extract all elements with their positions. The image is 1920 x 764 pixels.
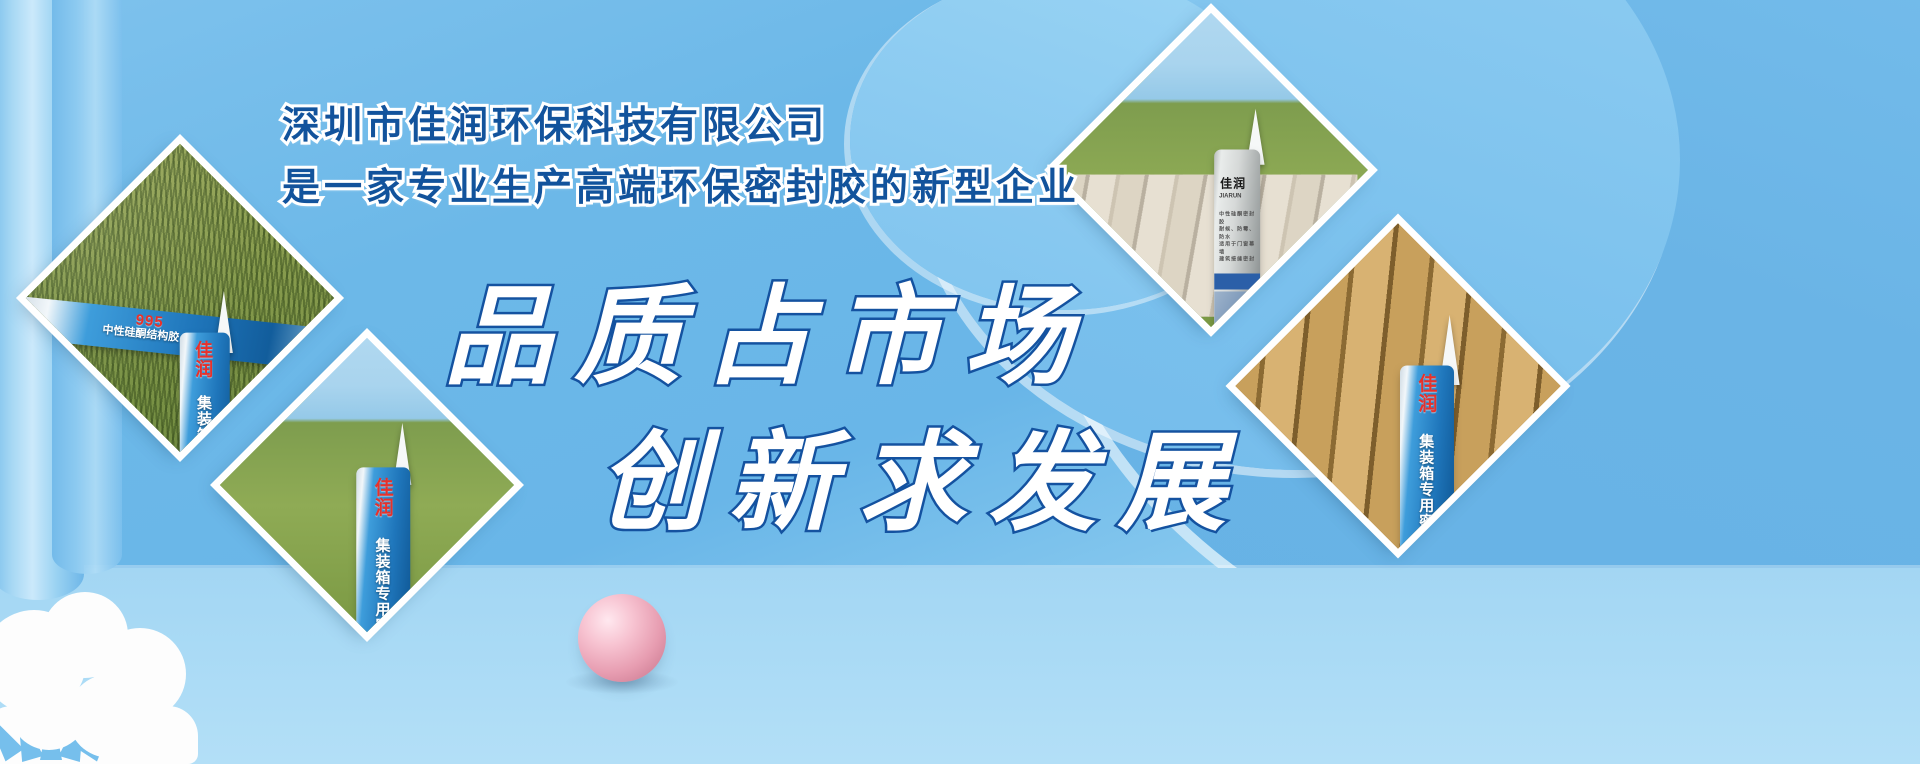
- slogan-innovation-development: 创新求发展: [598, 396, 1248, 552]
- slogan-quality-market: 品质占市场: [444, 250, 1094, 406]
- company-name-line: 深圳市佳润环保科技有限公司: [282, 96, 1042, 158]
- company-description-line: 是一家专业生产高端环保密封胶的新型企业: [282, 158, 1042, 220]
- tube-jiarun-gray: 佳润 JIARUN 中性硅酮密封胶耐候、防霉、防水适用于门窗幕墙建筑接缝密封: [1214, 149, 1260, 326]
- promo-banner: 995 中性硅酮结构胶 佳润 集装箱专用密封胶 佳润 集装箱专用密封胶: [0, 0, 1920, 764]
- pink-sphere: [578, 594, 666, 682]
- white-cloud-bush: [0, 574, 242, 764]
- floor-band: [0, 568, 1920, 764]
- tube-jiarun-right-bottom: 佳润 集装箱专用密封胶: [1400, 365, 1454, 548]
- headline-block: 深圳市佳润环保科技有限公司 是一家专业生产高端环保密封胶的新型企业: [282, 96, 1042, 219]
- tube-jiarun-left: 佳润 集装箱专用密封胶: [180, 333, 230, 453]
